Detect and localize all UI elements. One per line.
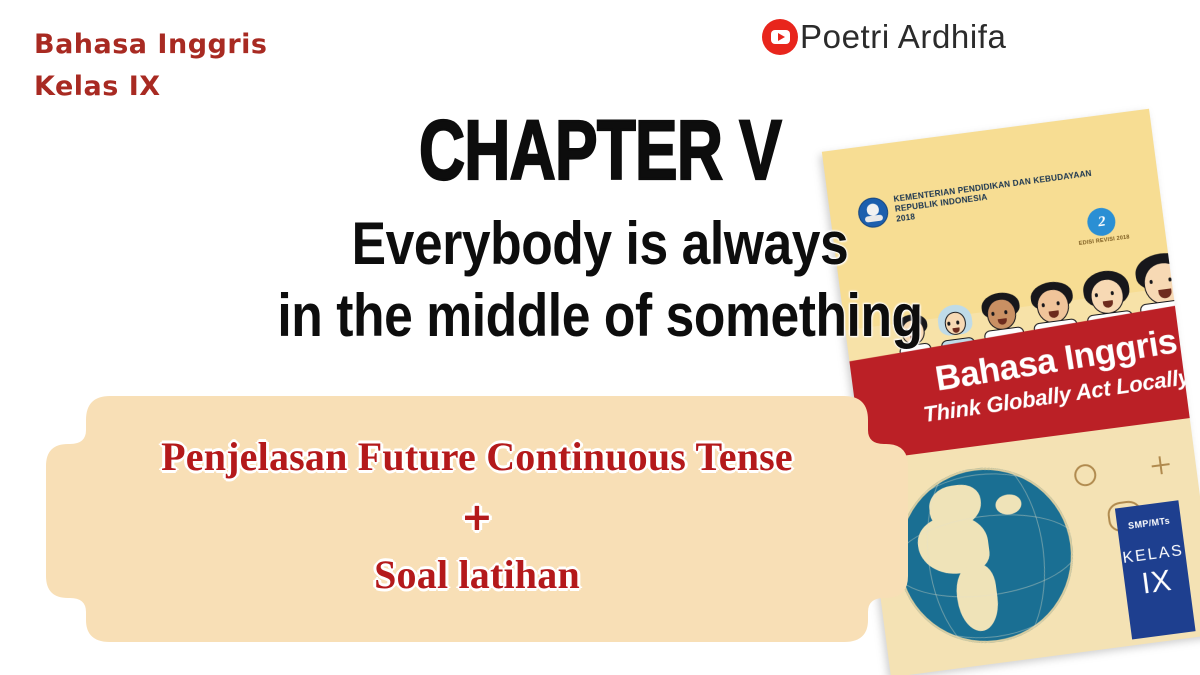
- youtube-play-icon: [762, 19, 798, 55]
- content-panel: Penjelasan Future Continuous Tense + Soa…: [46, 390, 908, 642]
- doodle-circle-icon: [1073, 463, 1098, 488]
- course-grade: Kelas IX: [34, 66, 268, 108]
- channel-branding: Poetri Ardhifa: [762, 18, 1007, 56]
- course-label: Bahasa Inggris Kelas IX: [34, 24, 268, 108]
- panel-text-block: Penjelasan Future Continuous Tense + Soa…: [46, 390, 908, 642]
- book-cover-bottom: SMP/MTs KELAS IX: [863, 418, 1200, 675]
- subtitle-line-2: in the middle of something: [84, 280, 1116, 352]
- slide-canvas: Bahasa Inggris Kelas IX Poetri Ardhifa C…: [0, 0, 1200, 675]
- student-figure-large: [902, 546, 1016, 674]
- panel-plus-sign: +: [461, 496, 493, 538]
- course-subject: Bahasa Inggris: [34, 24, 268, 66]
- school-level: SMP/MTs: [1117, 514, 1182, 532]
- grade-tab: SMP/MTs KELAS IX: [1115, 500, 1196, 639]
- channel-name: Poetri Ardhifa: [800, 18, 1007, 56]
- grade-value: IX: [1123, 562, 1191, 604]
- student-figure-large: [1004, 544, 1107, 661]
- panel-title: Penjelasan Future Continuous Tense: [161, 434, 793, 480]
- subtitle-line-1: Everybody is always: [84, 208, 1116, 280]
- panel-subtitle: Soal latihan: [374, 552, 580, 598]
